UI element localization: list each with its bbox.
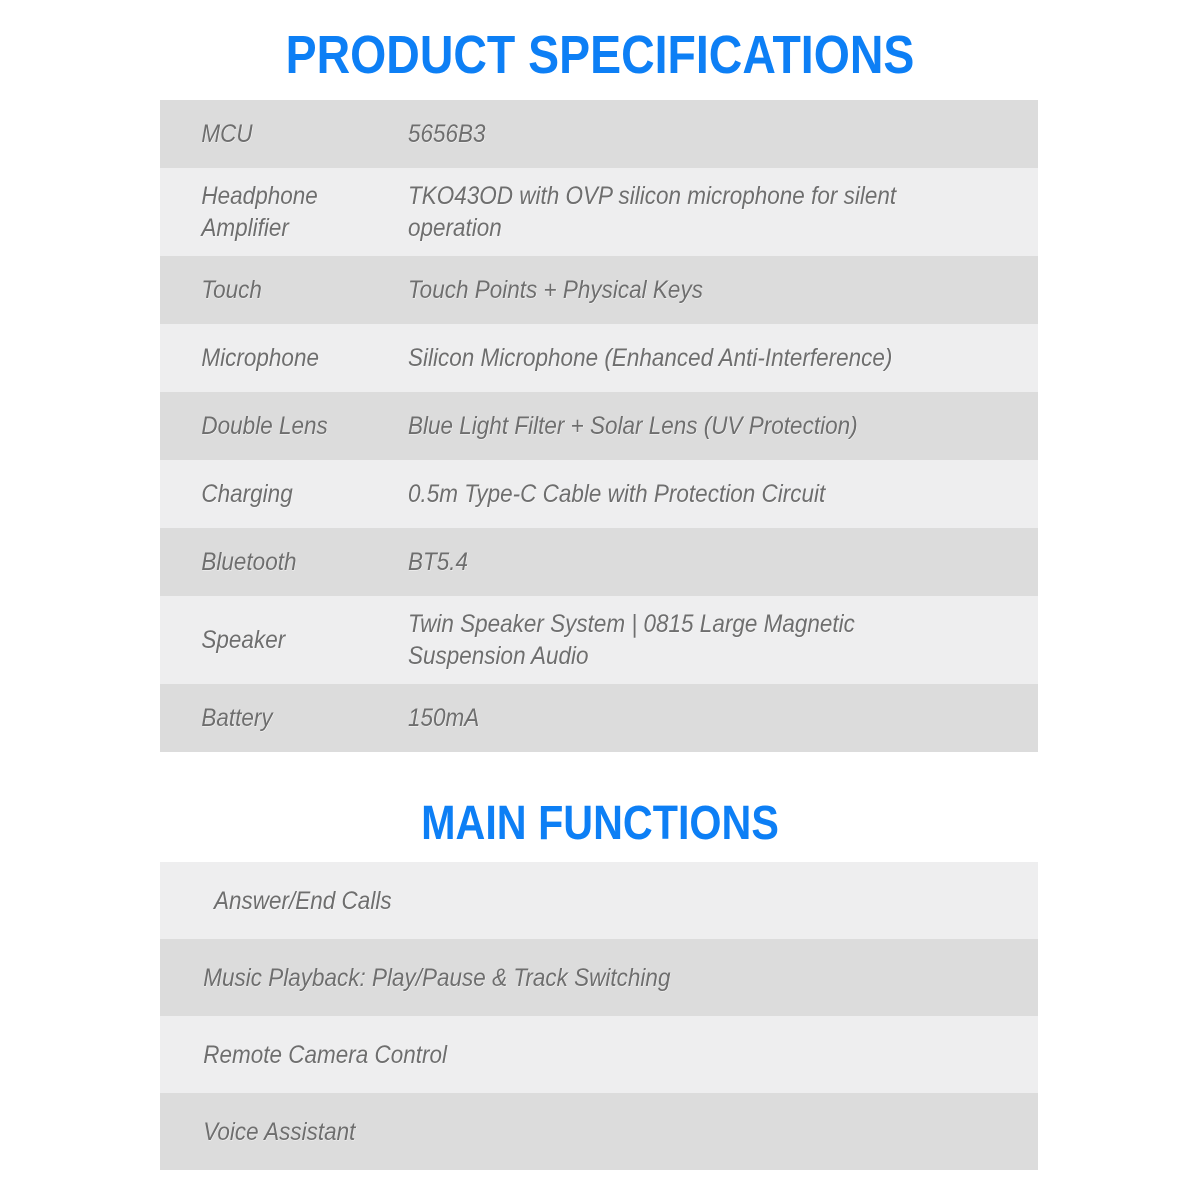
spec-value: Touch Points + Physical Keys — [408, 274, 975, 306]
list-item: Remote Camera Control — [160, 1016, 1038, 1093]
function-label: Answer/End Calls — [160, 885, 950, 917]
function-label: Voice Assistant — [160, 1116, 950, 1148]
table-row: Bluetooth BT5.4 — [160, 528, 1038, 596]
spec-label: Charging — [160, 478, 383, 510]
product-spec-sheet: PRODUCT SPECIFICATIONS MCU 5656B3 Headph… — [0, 0, 1200, 1200]
spec-label: Microphone — [160, 342, 383, 374]
list-item: Voice Assistant — [160, 1093, 1038, 1170]
table-row: Speaker Twin Speaker System | 0815 Large… — [160, 596, 1038, 684]
main-functions-heading: MAIN FUNCTIONS — [84, 800, 1116, 848]
table-row: Headphone Amplifier TKO43OD with OVP sil… — [160, 168, 1038, 256]
spec-value: TKO43OD with OVP silicon microphone for … — [408, 180, 975, 244]
spec-label: Bluetooth — [160, 546, 383, 578]
table-row: Charging 0.5m Type-C Cable with Protecti… — [160, 460, 1038, 528]
functions-table: Answer/End Calls Music Playback: Play/Pa… — [160, 862, 1038, 1170]
spec-label: Speaker — [160, 624, 383, 656]
spec-value: 5656B3 — [408, 118, 975, 150]
product-specifications-heading: PRODUCT SPECIFICATIONS — [84, 28, 1116, 82]
spec-value: 150mA — [408, 702, 975, 734]
specifications-table: MCU 5656B3 Headphone Amplifier TKO43OD w… — [160, 100, 1038, 752]
spec-label: Headphone Amplifier — [160, 180, 383, 244]
spec-value: Twin Speaker System | 0815 Large Magneti… — [408, 608, 975, 672]
table-row: Touch Touch Points + Physical Keys — [160, 256, 1038, 324]
spec-value: Blue Light Filter + Solar Lens (UV Prote… — [408, 410, 975, 442]
spec-value: Silicon Microphone (Enhanced Anti-Interf… — [408, 342, 975, 374]
function-label: Remote Camera Control — [160, 1039, 950, 1071]
spec-label: MCU — [160, 118, 383, 150]
spec-value: BT5.4 — [408, 546, 975, 578]
function-label: Music Playback: Play/Pause & Track Switc… — [160, 962, 950, 994]
table-row: Microphone Silicon Microphone (Enhanced … — [160, 324, 1038, 392]
spec-value: 0.5m Type-C Cable with Protection Circui… — [408, 478, 975, 510]
spec-label: Battery — [160, 702, 383, 734]
spec-label: Double Lens — [160, 410, 383, 442]
list-item: Answer/End Calls — [160, 862, 1038, 939]
table-row: MCU 5656B3 — [160, 100, 1038, 168]
table-row: Double Lens Blue Light Filter + Solar Le… — [160, 392, 1038, 460]
table-row: Battery 150mA — [160, 684, 1038, 752]
list-item: Music Playback: Play/Pause & Track Switc… — [160, 939, 1038, 1016]
spec-label: Touch — [160, 274, 383, 306]
